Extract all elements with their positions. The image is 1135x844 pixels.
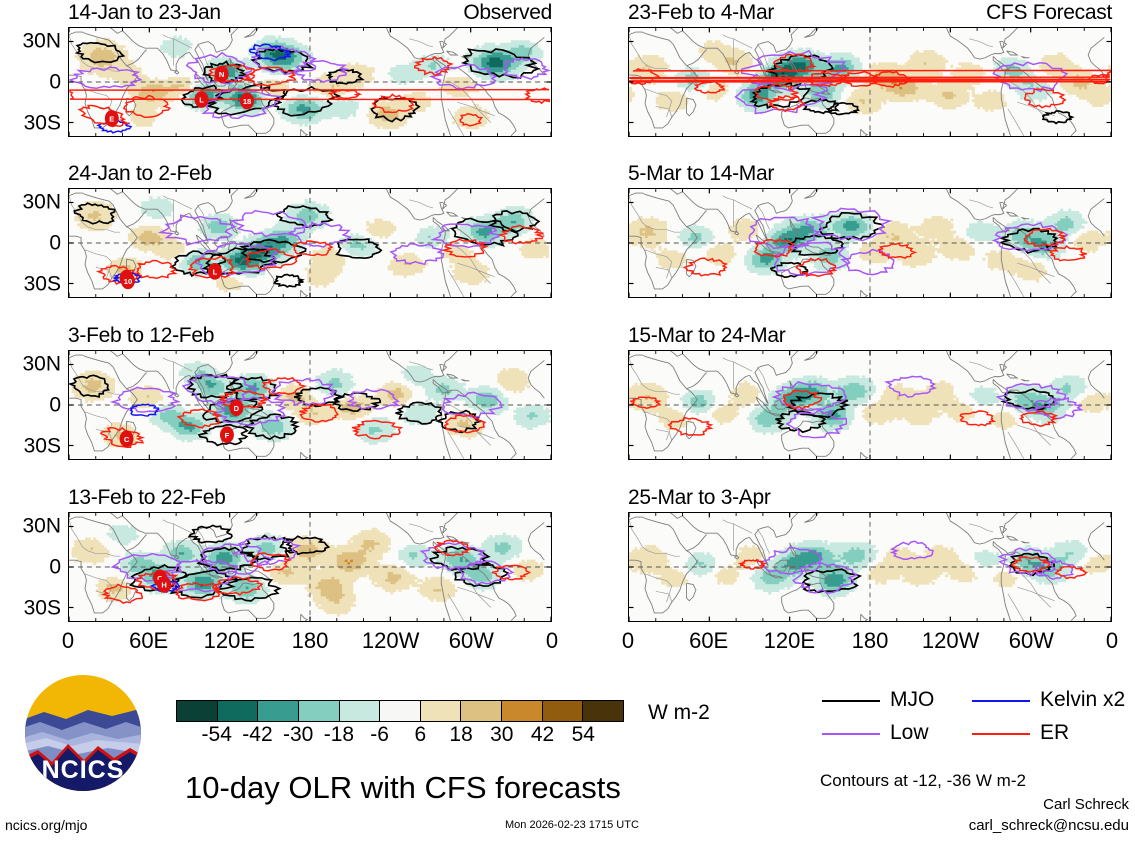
page-title: 10-day OLR with CFS forecasts — [185, 772, 621, 803]
panel-title: 5-Mar to 14-Mar — [628, 163, 774, 184]
ncics-logo: NCICS — [22, 672, 144, 794]
y-axis-tick-label: 0 — [49, 395, 61, 416]
y-axis-tick-label: 30N — [22, 191, 61, 212]
legend-line-mjo — [822, 700, 880, 702]
colorbar-tick-label: -42 — [242, 724, 272, 745]
x-axis-tick-label: 60E — [129, 630, 168, 652]
x-axis-tick-label: 60W — [449, 630, 494, 652]
x-axis-tick-label: 180 — [292, 630, 329, 652]
colorbar-swatch — [379, 701, 420, 721]
colorbar-swatch — [339, 701, 380, 721]
map-panel: 25-Mar to 3-Apr060E120E180120W60W0 — [628, 512, 1112, 622]
y-axis-tick-label: 30S — [24, 436, 61, 457]
y-axis-tick-label: 30N — [22, 353, 61, 374]
legend-label-mjo: MJO — [890, 689, 934, 710]
site-url: ncics.org/mjo — [5, 818, 87, 832]
map-panel: 5-Mar to 14-Mar — [628, 188, 1112, 298]
colorbar-tick-label: -18 — [324, 724, 354, 745]
colorbar-swatch — [298, 701, 339, 721]
x-axis-tick-label: 0 — [62, 630, 74, 652]
legend-label-kelvin-x2: Kelvin x2 — [1040, 689, 1125, 710]
y-axis-tick-label: 0 — [49, 72, 61, 93]
x-axis-tick-label: 120W — [362, 630, 419, 652]
x-axis-tick-label: 60W — [1009, 630, 1054, 652]
panel-title: 14-Jan to 23-Jan — [68, 2, 221, 23]
map-plot-area — [628, 512, 1112, 622]
panel-title: 23-Feb to 4-Mar — [628, 2, 774, 23]
y-axis-tick-label: 0 — [49, 557, 61, 578]
map-plot-area: GH — [68, 512, 552, 622]
map-panel: 3-Feb to 12-Feb30N030SCDF — [68, 350, 552, 460]
x-axis-tick-label: 120E — [204, 630, 255, 652]
colorbar-swatch — [582, 701, 623, 721]
legend-line-low — [822, 733, 880, 735]
map-panel: 15-Mar to 24-Mar — [628, 350, 1112, 460]
svg-text:N: N — [219, 70, 224, 79]
colorbar-swatch — [217, 701, 258, 721]
y-axis-tick-label: 30N — [22, 515, 61, 536]
column-header: CFS Forecast — [986, 2, 1112, 23]
timestamp: Mon 2026-02-23 1715 UTC — [505, 820, 639, 831]
legend-label-er: ER — [1040, 722, 1069, 743]
x-axis-tick-label: 180 — [852, 630, 889, 652]
colorbar-tick-label: 54 — [572, 724, 595, 745]
colorbar-tick-label: 18 — [449, 724, 472, 745]
column-header: Observed — [463, 2, 552, 23]
colorbar — [176, 700, 624, 722]
colorbar-unit-label: W m-2 — [648, 702, 710, 723]
colorbar-swatch — [177, 701, 217, 721]
contour-note: Contours at -12, -36 W m-2 — [820, 772, 1026, 789]
x-axis-tick-label: 0 — [622, 630, 634, 652]
map-plot-area: E10L — [68, 188, 552, 298]
author-credit: Carl Schreck — [1043, 797, 1135, 812]
colorbar-swatch — [460, 701, 501, 721]
panel-title: 3-Feb to 12-Feb — [68, 325, 214, 346]
map-plot-area: ELN18 — [68, 27, 552, 137]
y-axis-tick-label: 30N — [22, 30, 61, 51]
map-panel: 23-Feb to 4-MarCFS Forecast — [628, 27, 1112, 137]
colorbar-swatch — [501, 701, 542, 721]
colorbar-tick-label: -6 — [370, 724, 389, 745]
x-axis-tick-label: 0 — [1106, 630, 1118, 652]
x-axis-tick-label: 60E — [689, 630, 728, 652]
x-axis-tick-label: 0 — [546, 630, 558, 652]
colorbar-tick-label: -54 — [202, 724, 232, 745]
figure-canvas: 14-Jan to 23-JanObserved30N030SELN1824-J… — [0, 0, 1135, 844]
y-axis-tick-label: 30S — [24, 598, 61, 619]
map-plot-area — [628, 27, 1112, 137]
panel-title: 24-Jan to 2-Feb — [68, 163, 212, 184]
svg-text:E: E — [109, 115, 114, 124]
colorbar-tick-label: 42 — [531, 724, 554, 745]
legend-line-kelvin-x2 — [972, 700, 1030, 702]
y-axis-tick-label: 0 — [49, 233, 61, 254]
author-email: carl_schreck@ncsu.edu — [969, 818, 1135, 833]
x-axis-tick-label: 120W — [922, 630, 979, 652]
legend-line-er — [972, 733, 1030, 735]
map-panel: 14-Jan to 23-JanObserved30N030SELN18 — [68, 27, 552, 137]
panel-title: 13-Feb to 22-Feb — [68, 487, 225, 508]
map-panel: 24-Jan to 2-Feb30N030SE10L — [68, 188, 552, 298]
map-plot-area: CDF — [68, 350, 552, 460]
y-axis-tick-label: 30S — [24, 274, 61, 295]
map-plot-area — [628, 188, 1112, 298]
svg-text:L: L — [199, 96, 204, 105]
colorbar-swatch — [420, 701, 461, 721]
colorbar-tick-label: 6 — [415, 724, 427, 745]
legend-label-low: Low — [890, 722, 929, 743]
y-axis-tick-label: 30S — [24, 113, 61, 134]
map-panel: 13-Feb to 22-Feb30N030S060E120E180120W60… — [68, 512, 552, 622]
colorbar-swatch — [542, 701, 583, 721]
panel-title: 25-Mar to 3-Apr — [628, 487, 771, 508]
x-axis-tick-label: 120E — [764, 630, 815, 652]
panel-title: 15-Mar to 24-Mar — [628, 325, 785, 346]
svg-text:18: 18 — [243, 97, 251, 106]
colorbar-tick-label: 30 — [490, 724, 513, 745]
map-plot-area — [628, 350, 1112, 460]
colorbar-tick-label: -30 — [283, 724, 313, 745]
colorbar-swatch — [257, 701, 298, 721]
